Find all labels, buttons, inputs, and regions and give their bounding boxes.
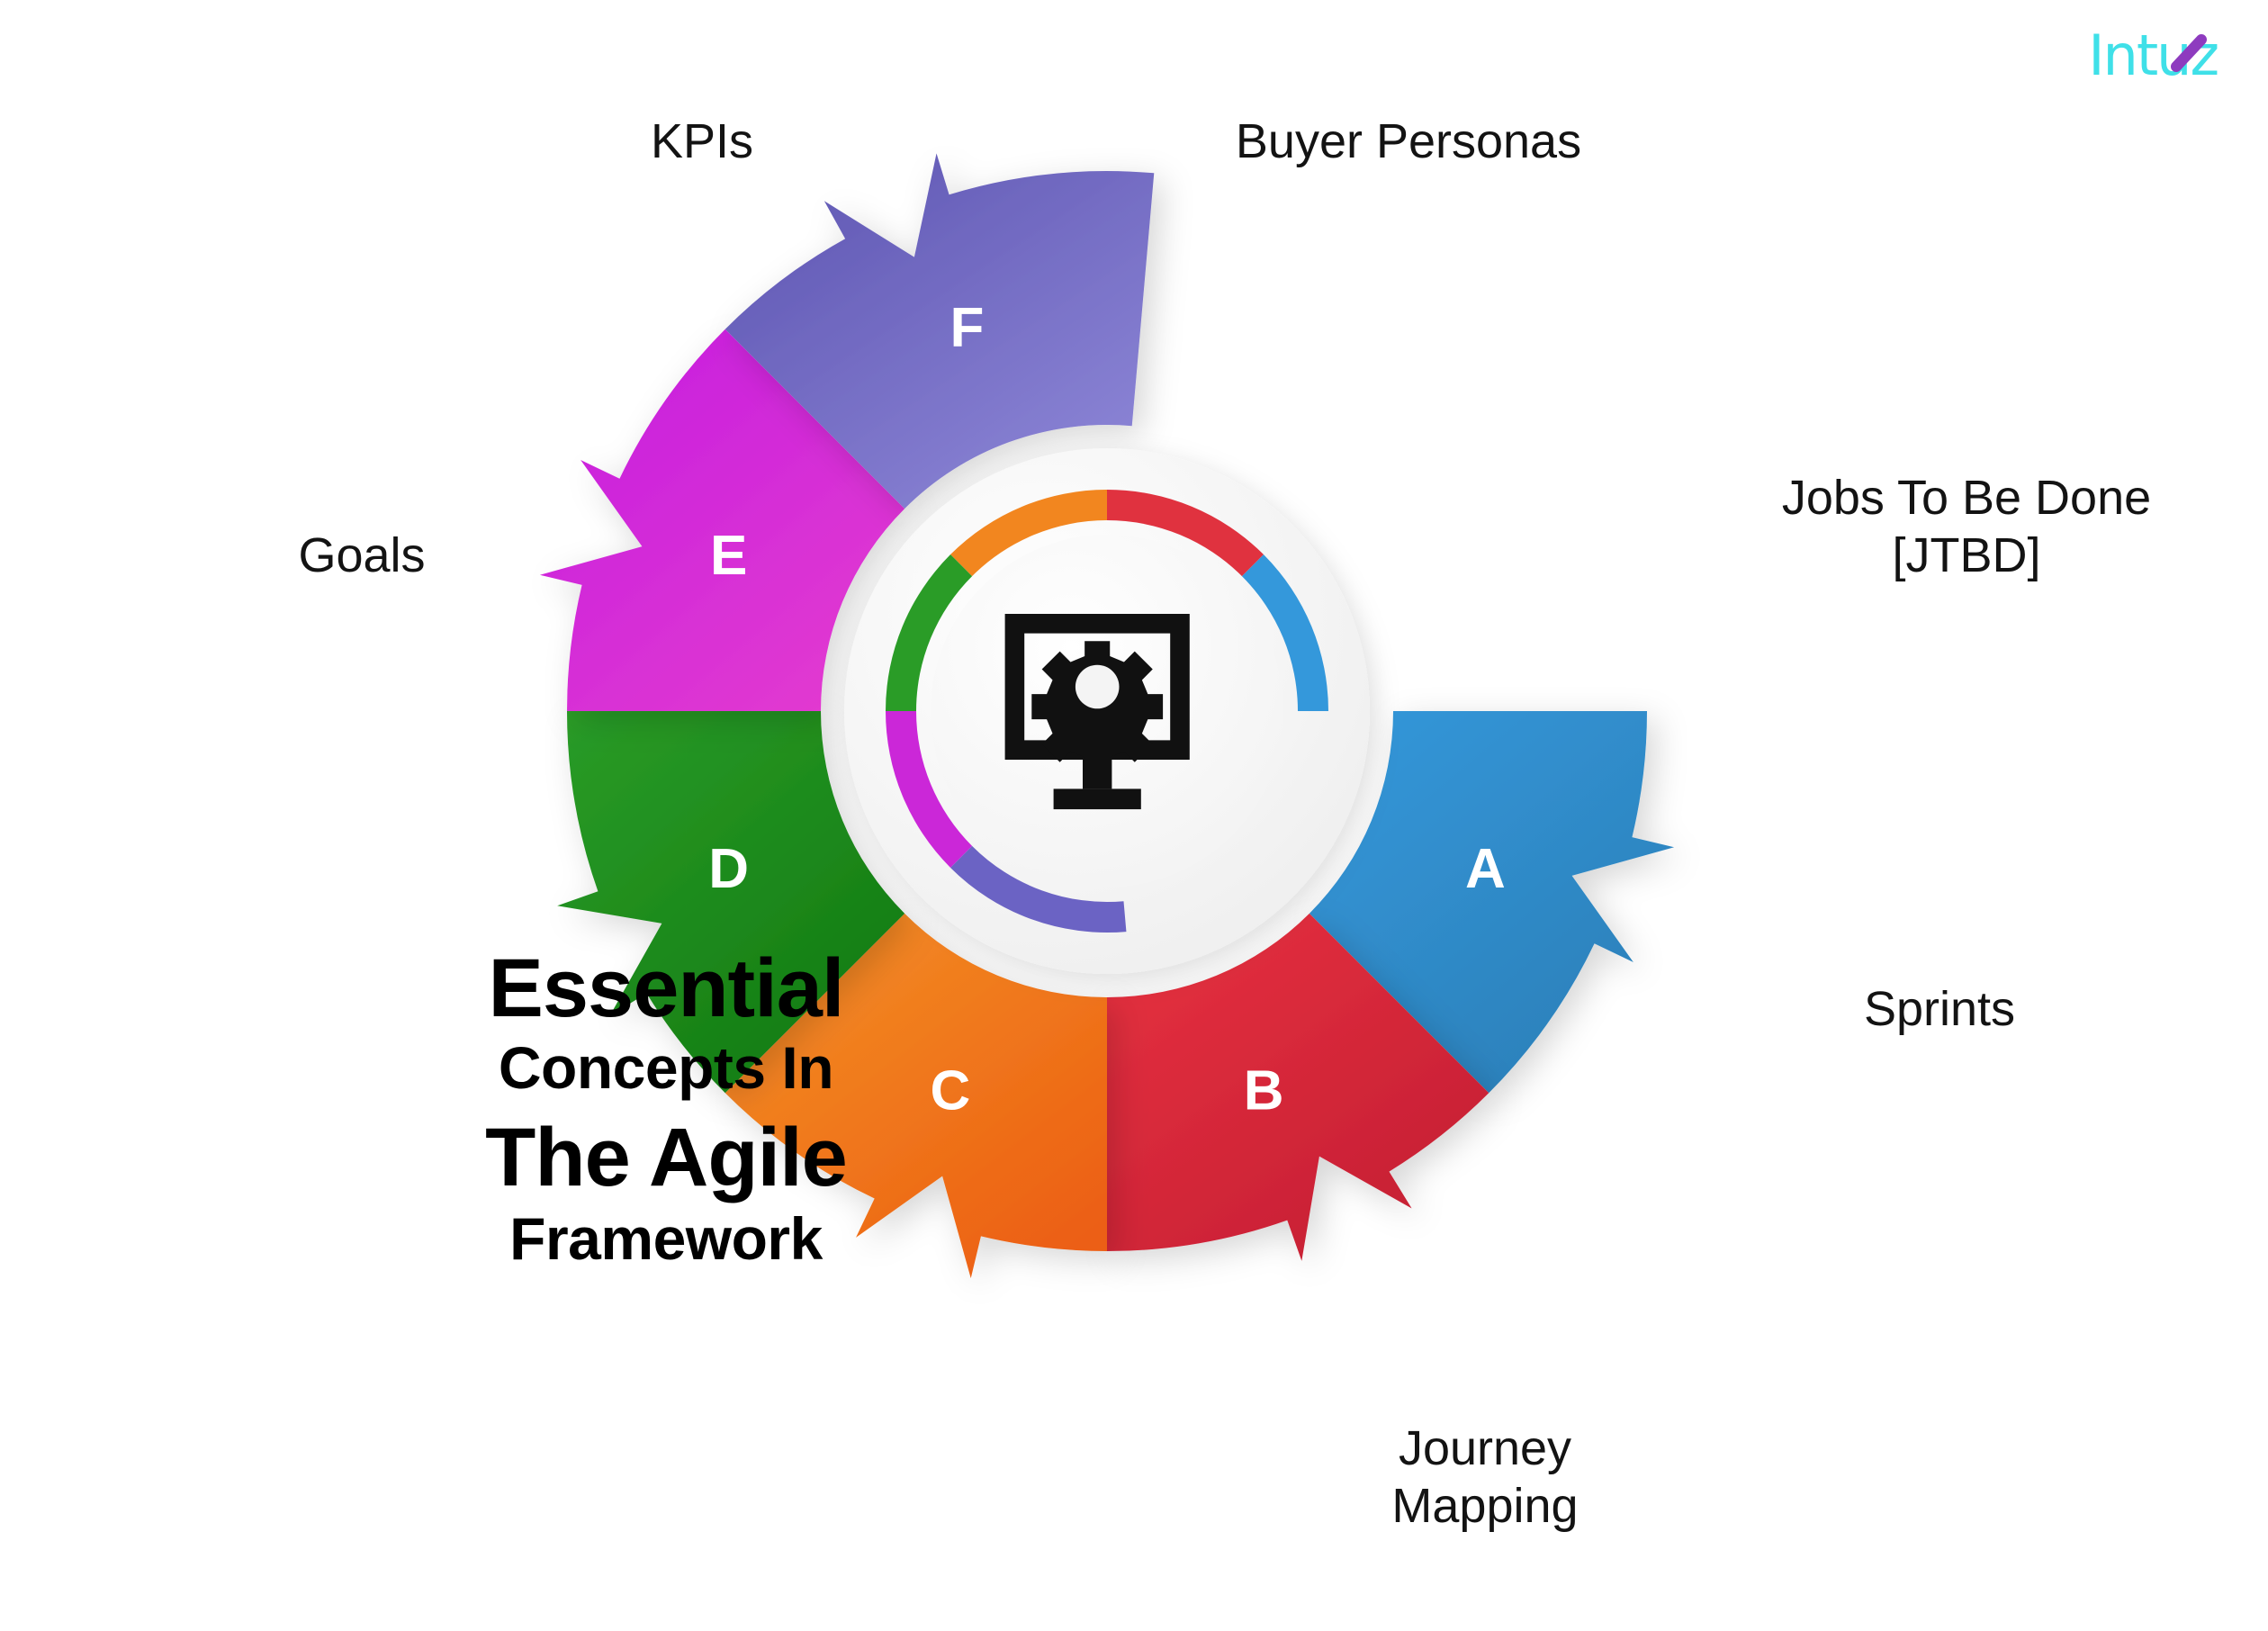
- segment-letter-b: B: [1244, 1059, 1284, 1122]
- wheel-label-sprints: Sprints: [1786, 981, 2092, 1039]
- wheel-label-goals: Goals: [245, 527, 479, 585]
- segment-letter-a: A: [1465, 838, 1506, 900]
- wheel-label-buyer-personas: Buyer Personas: [1129, 113, 1687, 171]
- wheel-label-jtbd: Jobs To Be Done [JTBD]: [1678, 470, 2254, 584]
- segment-letter-c: C: [930, 1059, 970, 1122]
- wheel-label-journey-mapping: Journey Mapping: [1278, 1420, 1692, 1535]
- segment-letter-d: D: [708, 838, 749, 900]
- headline-line-1: Essential: [414, 947, 918, 1030]
- segment-letter-e: E: [710, 525, 747, 587]
- headline-line-3: The Agile: [414, 1116, 918, 1199]
- agile-framework-wheel: ABCDEF: [0, 0, 2268, 1631]
- wheel-label-kpis: KPIs: [558, 113, 846, 171]
- headline-line-2: Concepts In: [414, 1033, 918, 1104]
- headline-line-4: Framework: [414, 1204, 918, 1275]
- segment-letter-f: F: [949, 296, 984, 358]
- page-title: Essential Concepts In The Agile Framewor…: [414, 947, 918, 1275]
